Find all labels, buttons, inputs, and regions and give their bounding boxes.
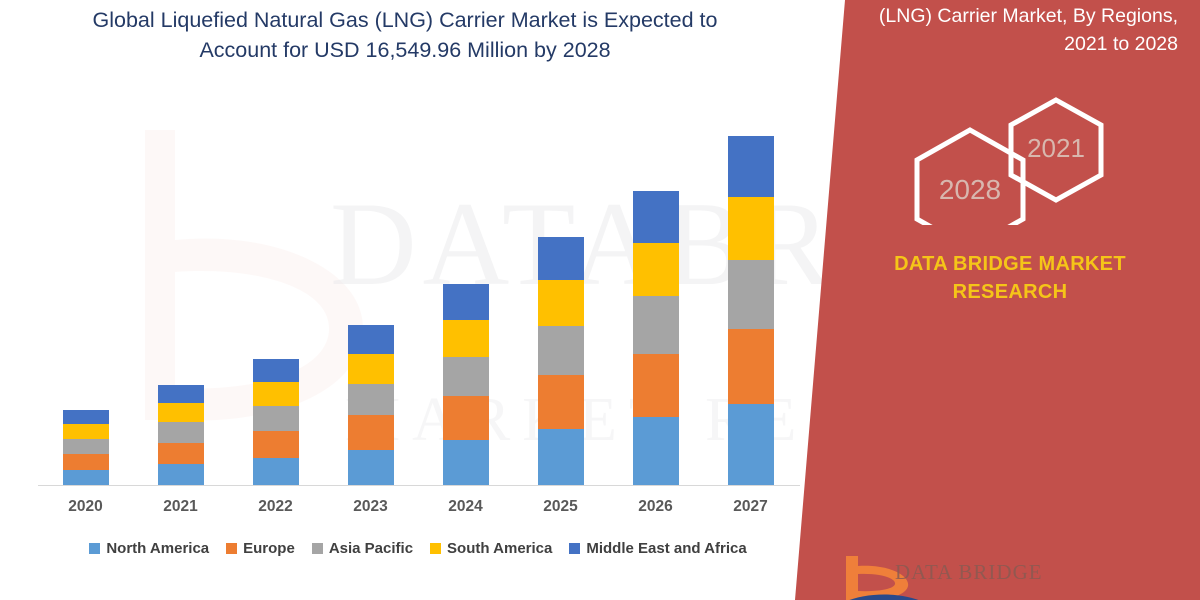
bar-segment — [538, 326, 584, 375]
bar-segment — [158, 464, 204, 485]
stacked-bar-2025[interactable] — [538, 237, 584, 485]
legend-swatch-icon — [226, 543, 237, 554]
brand-line-1: DATA BRIDGE MARKET — [820, 250, 1200, 278]
red-panel-content: (LNG) Carrier Market, By Regions, 2021 t… — [820, 0, 1200, 600]
bar-segment — [63, 410, 109, 424]
bar-slot — [608, 118, 703, 485]
stacked-bar-2022[interactable] — [253, 359, 299, 485]
bar-segment — [443, 440, 489, 485]
stacked-bar-2026[interactable] — [633, 191, 679, 485]
bar-segment — [253, 431, 299, 458]
bar-segment — [443, 357, 489, 397]
bar-slot — [418, 118, 513, 485]
legend-item[interactable]: Asia Pacific — [312, 540, 413, 557]
bar-segment — [158, 385, 204, 403]
stacked-bar-group — [38, 118, 798, 485]
legend-label: South America — [447, 540, 552, 557]
chart-panel: Global Liquefied Natural Gas (LNG) Carri… — [0, 0, 830, 600]
bar-segment — [63, 470, 109, 485]
hexagon-2028-label: 2028 — [939, 174, 1001, 205]
hexagon-badges: 2021 2028 — [820, 95, 1200, 225]
x-axis-label-2026: 2026 — [608, 498, 703, 516]
legend-label: Europe — [243, 540, 295, 557]
bar-segment — [633, 243, 679, 296]
chart-title-line-1: Global Liquefied Natural Gas (LNG) Carri… — [93, 8, 694, 32]
bar-slot — [228, 118, 323, 485]
bar-segment — [348, 354, 394, 384]
infographic-canvas: DATABRIDGE MARKET RESEARCH Global Liquef… — [0, 0, 1200, 600]
legend-label: North America — [106, 540, 209, 557]
chart-title: Global Liquefied Natural Gas (LNG) Carri… — [55, 5, 755, 65]
bar-segment — [728, 329, 774, 404]
bar-slot — [133, 118, 228, 485]
x-axis-labels: 20202021202220232024202520262027 — [38, 498, 798, 516]
legend-swatch-icon — [430, 543, 441, 554]
bar-segment — [63, 439, 109, 454]
bar-segment — [633, 417, 679, 485]
bar-segment — [633, 354, 679, 418]
bar-segment — [728, 260, 774, 329]
bar-segment — [253, 458, 299, 485]
bar-segment — [348, 325, 394, 354]
red-panel-title: (LNG) Carrier Market, By Regions, 2021 t… — [828, 2, 1178, 58]
bar-segment — [633, 296, 679, 354]
legend-swatch-icon — [89, 543, 100, 554]
data-bridge-logo-text: DATA BRIDGE — [895, 560, 1043, 585]
bar-segment — [728, 136, 774, 197]
bar-segment — [348, 450, 394, 485]
bar-segment — [348, 415, 394, 450]
hexagon-2021-label: 2021 — [1027, 133, 1085, 163]
legend-item[interactable]: Europe — [226, 540, 295, 557]
stacked-bar-2020[interactable] — [63, 410, 109, 485]
bar-segment — [253, 359, 299, 382]
bar-segment — [443, 320, 489, 357]
x-axis-label-2021: 2021 — [133, 498, 228, 516]
legend-label: Middle East and Africa — [586, 540, 746, 557]
stacked-bar-2027[interactable] — [728, 136, 774, 485]
legend-item[interactable]: South America — [430, 540, 552, 557]
bar-segment — [443, 284, 489, 320]
bar-segment — [728, 404, 774, 485]
stacked-bar-2023[interactable] — [348, 325, 394, 485]
bar-segment — [348, 384, 394, 416]
legend-label: Asia Pacific — [329, 540, 413, 557]
x-axis-line — [38, 485, 800, 486]
legend-swatch-icon — [312, 543, 323, 554]
x-axis-label-2024: 2024 — [418, 498, 513, 516]
bar-slot — [703, 118, 798, 485]
bar-segment — [253, 382, 299, 406]
stacked-bar-2024[interactable] — [443, 284, 489, 485]
red-panel-title-line-2: 2021 to 2028 — [828, 30, 1178, 58]
x-axis-label-2025: 2025 — [513, 498, 608, 516]
chart-legend: North AmericaEuropeAsia PacificSouth Ame… — [38, 540, 798, 557]
stacked-bar-2021[interactable] — [158, 385, 204, 485]
bar-segment — [728, 197, 774, 260]
bar-segment — [443, 396, 489, 439]
bar-segment — [63, 424, 109, 438]
bar-segment — [538, 237, 584, 280]
red-panel-title-line-1: (LNG) Carrier Market, By Regions, — [828, 2, 1178, 30]
x-axis-label-2023: 2023 — [323, 498, 418, 516]
bar-segment — [538, 375, 584, 429]
legend-swatch-icon — [569, 543, 580, 554]
bar-segment — [538, 280, 584, 325]
bar-segment — [633, 191, 679, 242]
bar-segment — [158, 403, 204, 422]
bar-slot — [38, 118, 133, 485]
bar-segment — [538, 429, 584, 485]
bar-segment — [253, 406, 299, 431]
bar-segment — [63, 454, 109, 469]
x-axis-label-2020: 2020 — [38, 498, 133, 516]
bar-slot — [323, 118, 418, 485]
bar-slot — [513, 118, 608, 485]
bar-segment — [158, 443, 204, 464]
brand-name: DATA BRIDGE MARKET RESEARCH — [820, 250, 1200, 306]
x-axis-label-2022: 2022 — [228, 498, 323, 516]
legend-item[interactable]: Middle East and Africa — [569, 540, 746, 557]
x-axis-label-2027: 2027 — [703, 498, 798, 516]
legend-item[interactable]: North America — [89, 540, 209, 557]
bar-segment — [158, 422, 204, 442]
brand-line-2: RESEARCH — [820, 278, 1200, 306]
